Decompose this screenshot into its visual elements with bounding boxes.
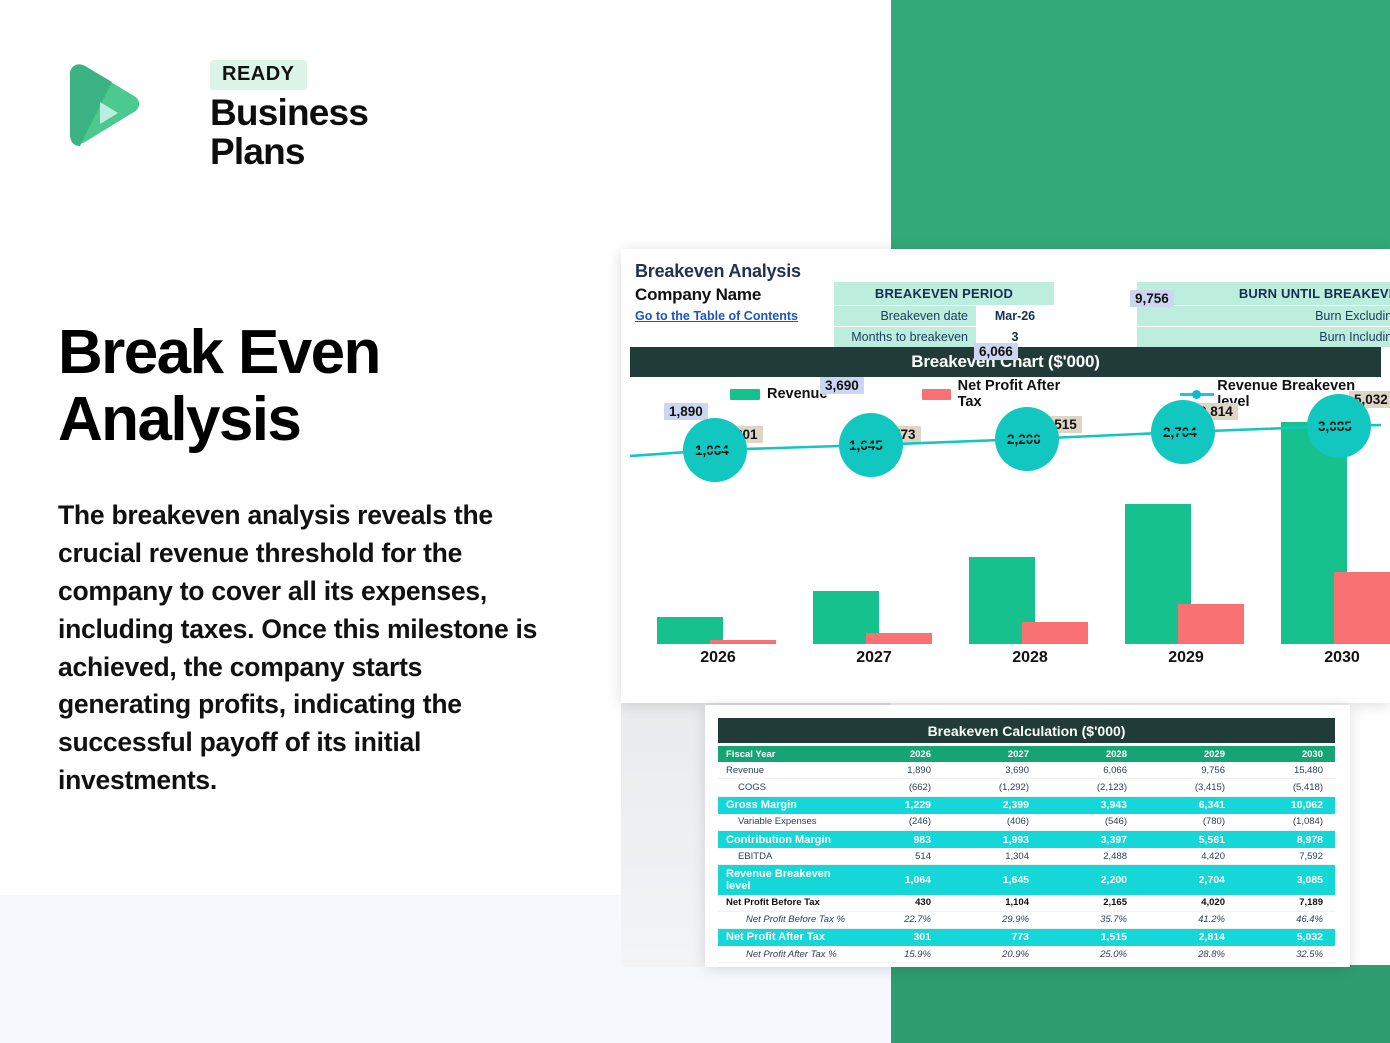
burn-header: BURN UNTIL BREAKEVEN ($'000) — [1137, 282, 1390, 305]
table-row: COGS(662)(1,292)(2,123)(3,415)(5,418) — [718, 779, 1335, 796]
row-value-2027: 29.9% — [943, 911, 1041, 928]
table-row: Variable Expenses(246)(406)(546)(780)(1,… — [718, 814, 1335, 831]
chart-x-axis: 2026 2027 2028 2029 2030 — [630, 649, 1381, 677]
table-row: Revenue Breakeven level1,0641,6452,2002,… — [718, 865, 1335, 895]
row-value-2026: 1,229 — [845, 796, 943, 814]
row-value-2027: 1,304 — [943, 848, 1041, 865]
row-value-2028: 2,488 — [1041, 848, 1139, 865]
row-value-2027: 1,645 — [943, 865, 1041, 895]
table-of-contents-link[interactable]: Go to the Table of Contents — [635, 309, 798, 323]
months-to-breakeven-label: Months to breakeven — [834, 327, 976, 347]
legend-label-revenue: Revenue — [767, 386, 827, 402]
breakeven-date-row: Breakeven date Mar-26 — [834, 305, 1054, 326]
row-value-2030: 15,480 — [1237, 762, 1335, 779]
row-label: Revenue — [718, 762, 845, 779]
row-value-2030: 3,085 — [1237, 865, 1335, 895]
burn-excluding-capex-label: Burn Excluding CAPEX — [1137, 306, 1390, 326]
row-value-2030: 32.5% — [1237, 946, 1335, 963]
row-value-2028: 6,066 — [1041, 762, 1139, 779]
row-value-2030: 10,062 — [1237, 796, 1335, 814]
row-value-2028: 25.0% — [1041, 946, 1139, 963]
row-label: COGS — [718, 779, 845, 796]
x-tick-2030: 2030 — [1324, 649, 1360, 667]
row-value-2029: 2,704 — [1139, 865, 1237, 895]
legend-swatch-npat-icon — [922, 389, 950, 400]
row-value-2026: 514 — [845, 848, 943, 865]
legend-line-marker-breakeven-icon — [1180, 388, 1212, 400]
table-row: Net Profit Before Tax %22.7%29.9%35.7%41… — [718, 911, 1335, 928]
chart-plot-area: 1,890 301 1,064 3,690 773 1,645 6,066 1,… — [630, 409, 1381, 644]
page-title: Break Even Analysis — [58, 320, 578, 454]
row-label: Variable Expenses — [718, 814, 845, 831]
row-value-2029: 2,814 — [1139, 928, 1237, 946]
row-value-2026: (246) — [845, 814, 943, 831]
brand-wordmark: READY Business Plans — [210, 60, 460, 172]
burn-excluding-capex-row: Burn Excluding CAPEX (11.0) — [1137, 305, 1390, 326]
background-panel-bottom-right — [891, 965, 1390, 1043]
sheet-title: Breakeven Analysis — [635, 261, 801, 282]
row-value-2026: 1,064 — [845, 865, 943, 895]
col-header-2027: 2027 — [943, 746, 1041, 762]
table-header-row: Fiscal Year 2026 2027 2028 2029 2030 — [718, 746, 1335, 762]
row-label: Net Profit Before Tax % — [718, 911, 845, 928]
col-header-2030: 2030 — [1237, 746, 1335, 762]
burn-until-breakeven-panel: BURN UNTIL BREAKEVEN ($'000) Burn Exclud… — [1137, 282, 1390, 347]
table-row: Revenue1,8903,6906,0669,75615,480 — [718, 762, 1335, 779]
row-value-2028: 35.7% — [1041, 911, 1139, 928]
row-value-2029: 9,756 — [1139, 762, 1237, 779]
burn-including-capex-row: Burn Including CAPEX (48.5) — [1137, 326, 1390, 347]
breakeven-period-panel: BREAKEVEN PERIOD Breakeven date Mar-26 M… — [834, 282, 1054, 347]
row-label: Revenue Breakeven level — [718, 865, 845, 895]
chart-legend: Revenue Net Profit After Tax Revenue Bre… — [630, 382, 1381, 406]
breakeven-calculation-card: Breakeven Calculation ($'000) Fiscal Yea… — [705, 705, 1350, 967]
months-to-breakeven-row: Months to breakeven 3 — [834, 326, 1054, 347]
table-row: Contribution Margin9831,9933,3975,5618,9… — [718, 830, 1335, 848]
company-name: Company Name — [635, 285, 761, 305]
row-value-2029: 4,420 — [1139, 848, 1237, 865]
row-value-2026: 15.9% — [845, 946, 943, 963]
table-body: Revenue1,8903,6906,0669,75615,480COGS(66… — [718, 762, 1335, 963]
breakeven-period-header: BREAKEVEN PERIOD — [834, 282, 1054, 305]
breakeven-calculation-table: Fiscal Year 2026 2027 2028 2029 2030 Rev… — [718, 746, 1335, 963]
row-value-2027: 2,399 — [943, 796, 1041, 814]
x-tick-2027: 2027 — [856, 649, 892, 667]
background-panel-top-right — [891, 0, 1390, 257]
x-tick-2029: 2029 — [1168, 649, 1204, 667]
row-value-2027: 3,690 — [943, 762, 1041, 779]
page-description: The breakeven analysis reveals the cruci… — [58, 497, 548, 800]
col-header-2028: 2028 — [1041, 746, 1139, 762]
row-label: Contribution Margin — [718, 830, 845, 848]
table-row: Net Profit After Tax3017731,5152,8145,03… — [718, 928, 1335, 946]
col-header-2029: 2029 — [1139, 746, 1237, 762]
bar-label-revenue-2027: 3,690 — [820, 377, 864, 394]
row-value-2027: (1,292) — [943, 779, 1041, 796]
row-value-2029: 28.8% — [1139, 946, 1237, 963]
calculation-table-title: Breakeven Calculation ($'000) — [718, 718, 1335, 743]
row-label: Net Profit After Tax % — [718, 946, 845, 963]
x-tick-2028: 2028 — [1012, 649, 1048, 667]
row-value-2029: 41.2% — [1139, 911, 1237, 928]
row-value-2029: 5,561 — [1139, 830, 1237, 848]
row-value-2029: (780) — [1139, 814, 1237, 831]
table-row: Net Profit Before Tax4301,1042,1654,0207… — [718, 895, 1335, 912]
table-row: Net Profit After Tax %15.9%20.9%25.0%28.… — [718, 946, 1335, 963]
row-value-2027: 20.9% — [943, 946, 1041, 963]
brand-pill: READY — [210, 60, 307, 90]
burn-including-capex-label: Burn Including CAPEX — [1137, 327, 1390, 347]
bar-label-revenue-2028: 6,066 — [974, 343, 1018, 360]
row-value-2030: (5,418) — [1237, 779, 1335, 796]
row-value-2028: 3,943 — [1041, 796, 1139, 814]
row-value-2030: (1,084) — [1237, 814, 1335, 831]
row-value-2026: 301 — [845, 928, 943, 946]
row-value-2026: 430 — [845, 895, 943, 912]
col-header-fiscal-year: Fiscal Year — [718, 746, 845, 762]
row-value-2027: 773 — [943, 928, 1041, 946]
row-value-2028: (2,123) — [1041, 779, 1139, 796]
breakeven-trend-line — [630, 409, 1381, 644]
legend-item-npat[interactable]: Net Profit After Tax — [922, 378, 1080, 410]
play-triangle-logo-icon — [60, 62, 142, 154]
row-value-2029: 4,020 — [1139, 895, 1237, 912]
legend-swatch-revenue-icon — [730, 389, 760, 400]
row-value-2026: 983 — [845, 830, 943, 848]
breakeven-date-label: Breakeven date — [834, 306, 976, 326]
row-value-2027: 1,993 — [943, 830, 1041, 848]
row-value-2030: 5,032 — [1237, 928, 1335, 946]
row-value-2026: 22.7% — [845, 911, 943, 928]
brand-name: Business Plans — [210, 94, 460, 172]
legend-label-npat: Net Profit After Tax — [958, 378, 1081, 410]
row-label: Gross Margin — [718, 796, 845, 814]
row-label: EBITDA — [718, 848, 845, 865]
x-tick-2026: 2026 — [700, 649, 736, 667]
brand-logo: READY Business Plans — [60, 60, 460, 160]
row-value-2026: 1,890 — [845, 762, 943, 779]
row-value-2028: 1,515 — [1041, 928, 1139, 946]
row-label: Net Profit Before Tax — [718, 895, 845, 912]
breakeven-date-value: Mar-26 — [976, 306, 1054, 326]
row-value-2028: 2,200 — [1041, 865, 1139, 895]
row-value-2027: (406) — [943, 814, 1041, 831]
row-value-2026: (662) — [845, 779, 943, 796]
row-value-2028: 3,397 — [1041, 830, 1139, 848]
row-value-2027: 1,104 — [943, 895, 1041, 912]
bar-label-revenue-2029: 9,756 — [1130, 290, 1174, 307]
table-row: EBITDA5141,3042,4884,4207,592 — [718, 848, 1335, 865]
row-value-2030: 7,189 — [1237, 895, 1335, 912]
row-value-2030: 8,978 — [1237, 830, 1335, 848]
row-value-2030: 7,592 — [1237, 848, 1335, 865]
breakeven-chart-card: Breakeven Analysis Company Name Go to th… — [621, 249, 1390, 703]
row-value-2030: 46.4% — [1237, 911, 1335, 928]
row-value-2028: 2,165 — [1041, 895, 1139, 912]
table-row: Gross Margin1,2292,3993,9436,34110,062 — [718, 796, 1335, 814]
col-header-2026: 2026 — [845, 746, 943, 762]
legend-item-revenue[interactable]: Revenue — [730, 386, 827, 402]
row-value-2028: (546) — [1041, 814, 1139, 831]
row-value-2029: 6,341 — [1139, 796, 1237, 814]
row-label: Net Profit After Tax — [718, 928, 845, 946]
row-value-2029: (3,415) — [1139, 779, 1237, 796]
